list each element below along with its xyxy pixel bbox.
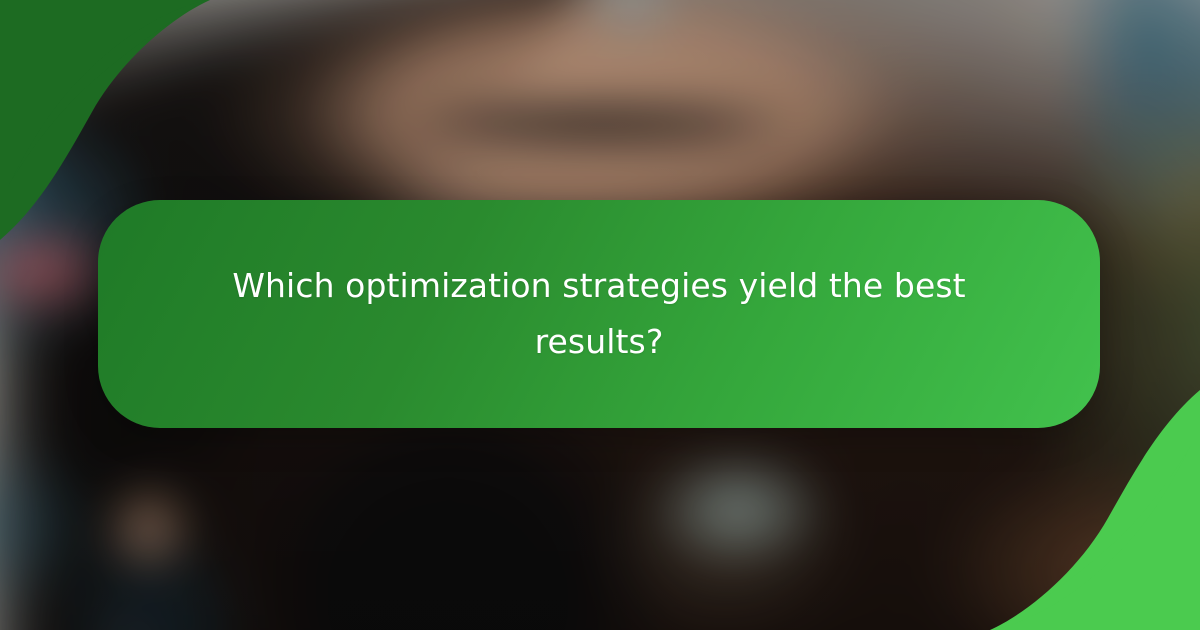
quote-text: Which optimization strategies yield the … [228,258,970,370]
quote-card-graphic: Which optimization strategies yield the … [0,0,1200,630]
quote-card: Which optimization strategies yield the … [98,200,1100,428]
